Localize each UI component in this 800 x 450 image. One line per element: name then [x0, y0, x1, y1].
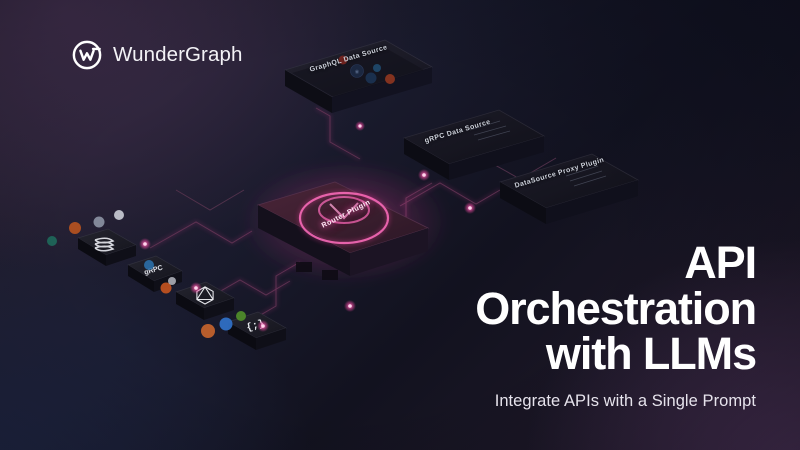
title-line-3: with LLMs: [546, 328, 756, 379]
brand-logo[interactable]: WunderGraph: [72, 40, 243, 70]
chip-grpc: gRPC: [128, 256, 182, 292]
title-line-2: Orchestration: [475, 283, 756, 334]
chip-database: [78, 229, 136, 266]
page-subtitle: Integrate APIs with a Single Prompt: [326, 392, 756, 411]
brand-name: WunderGraph: [113, 43, 243, 67]
hero-banner: ⚛: [0, 0, 800, 450]
card-datasource-proxy-plugin: [500, 154, 638, 224]
page-title: API Orchestration with LLMs: [326, 240, 756, 377]
wundergraph-w-mark-icon: [72, 40, 102, 70]
card-graphql-data-source: ⚛: [285, 40, 432, 113]
headline-block: API Orchestration with LLMs Integrate AP…: [326, 240, 756, 411]
title-line-1: API: [684, 237, 756, 288]
svg-text:⚛: ⚛: [354, 69, 359, 76]
